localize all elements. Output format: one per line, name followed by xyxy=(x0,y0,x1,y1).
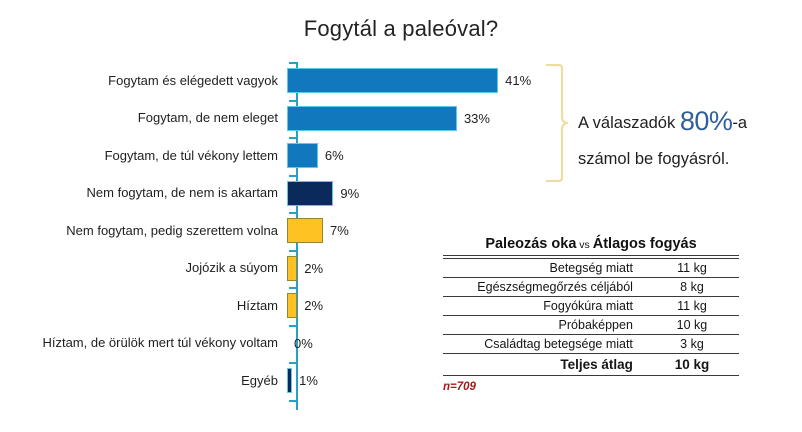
bar-row: Fogytam és elégedett vagyok41% xyxy=(0,62,545,100)
bar-value-label: 2% xyxy=(304,298,323,313)
axis-tick xyxy=(289,212,297,214)
axis-tick xyxy=(289,100,297,102)
axis-tick xyxy=(289,400,297,402)
callout-text: A válaszadók 80%-a számol be fogyásról. xyxy=(578,98,798,174)
table-title-part2: Átlagos fogyás xyxy=(593,236,697,252)
bar-category-label: Fogytam, de túl vékony lettem xyxy=(0,149,287,163)
table-cell-label: Fogyókúra miatt xyxy=(443,297,645,316)
callout-text-before: A válaszadók xyxy=(578,114,680,132)
table-cell-value: 3 kg xyxy=(645,335,739,354)
bar-row: Fogytam, de túl vékony lettem6% xyxy=(0,137,545,175)
table-cell-value: 10 kg xyxy=(645,316,739,335)
bar[interactable] xyxy=(287,181,333,206)
bar-row: Nem fogytam, de nem is akartam9% xyxy=(0,175,545,213)
bar-category-label: Fogytam és elégedett vagyok xyxy=(0,74,287,88)
bar-track: 41% xyxy=(287,62,545,100)
bar-category-label: Nem fogytam, pedig szerettem volna xyxy=(0,224,287,238)
axis-tick xyxy=(289,287,297,289)
table-cell-value: 11 kg xyxy=(645,297,739,316)
bar[interactable] xyxy=(287,106,457,131)
callout-line-1: A válaszadók 80%-a xyxy=(578,98,798,145)
table-total-row: Teljes átlag10 kg xyxy=(443,354,739,376)
bar-category-label: Fogytam, de nem eleget xyxy=(0,111,287,125)
bar-value-label: 9% xyxy=(340,186,359,201)
table-total-label: Teljes átlag xyxy=(443,354,645,376)
axis-tick xyxy=(289,62,297,64)
bar-category-label: Híztam xyxy=(0,299,287,313)
table-cell-label: Családtag betegsége miatt xyxy=(443,335,645,354)
axis-tick xyxy=(289,362,297,364)
table-body: Betegség miatt11 kgEgészségmegőrzés célj… xyxy=(443,259,739,376)
table-cell-label: Betegség miatt xyxy=(443,259,645,278)
bar[interactable] xyxy=(287,143,318,168)
page-title: Fogytál a paleóval? xyxy=(0,16,802,42)
bar-value-label: 0% xyxy=(294,336,313,351)
table-cell-label: Egészségmegőrzés céljából xyxy=(443,278,645,297)
bar-value-label: 6% xyxy=(325,148,344,163)
bar[interactable] xyxy=(287,256,297,281)
bar[interactable] xyxy=(287,218,323,243)
bar-category-label: Jojózik a súyom xyxy=(0,261,287,275)
table-cell-label: Próbaképpen xyxy=(443,316,645,335)
bar-category-label: Nem fogytam, de nem is akartam xyxy=(0,186,287,200)
bar-track: 6% xyxy=(287,137,545,175)
table-total-value: 10 kg xyxy=(645,354,739,376)
table-title-part1: Paleozás oka xyxy=(485,236,576,252)
axis-tick xyxy=(289,137,297,139)
table-row: Családtag betegsége miatt3 kg xyxy=(443,335,739,354)
bar-category-label: Híztam, de örülök mert túl vékony voltam xyxy=(0,336,287,350)
axis-tick xyxy=(289,325,297,327)
average-loss-table: Paleozás oka vs Átlagos fogyás Betegség … xyxy=(443,236,739,393)
table-row: Fogyókúra miatt11 kg xyxy=(443,297,739,316)
bar-track: 9% xyxy=(287,175,545,213)
bar-value-label: 33% xyxy=(464,111,490,126)
bar-track: 33% xyxy=(287,100,545,138)
bar-value-label: 1% xyxy=(299,373,318,388)
table-title-vs: vs xyxy=(576,239,592,251)
callout-highlight-value: 80% xyxy=(680,106,733,136)
bar-category-label: Egyéb xyxy=(0,374,287,388)
bar[interactable] xyxy=(287,293,297,318)
table-row: Próbaképpen10 kg xyxy=(443,316,739,335)
table-cell-value: 8 kg xyxy=(645,278,739,297)
bar[interactable] xyxy=(287,68,498,93)
axis-tick xyxy=(289,175,297,177)
table-cell-value: 11 kg xyxy=(645,259,739,278)
bar-row: Fogytam, de nem eleget33% xyxy=(0,100,545,138)
table-title: Paleozás oka vs Átlagos fogyás xyxy=(443,236,739,255)
bar-value-label: 2% xyxy=(304,261,323,276)
bar-value-label: 7% xyxy=(330,223,349,238)
table-sample-size-note: n=709 xyxy=(443,381,739,393)
bar[interactable] xyxy=(287,368,292,393)
slide-canvas: Fogytál a paleóval? Fogytam és elégedett… xyxy=(0,0,802,432)
table-row: Betegség miatt11 kg xyxy=(443,259,739,278)
axis-tick xyxy=(289,250,297,252)
table-row: Egészségmegőrzés céljából8 kg xyxy=(443,278,739,297)
callout-line-2: számol be fogyásról. xyxy=(578,145,798,174)
bar-value-label: 41% xyxy=(505,73,531,88)
bracket-annotation xyxy=(546,64,568,182)
callout-text-after: -a xyxy=(732,114,747,132)
